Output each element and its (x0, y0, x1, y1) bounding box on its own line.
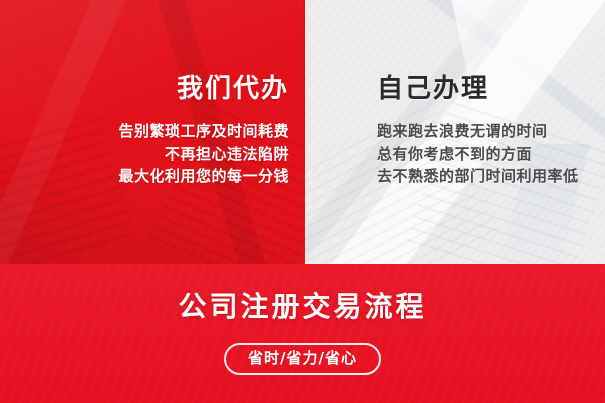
panel-do-it-yourself-content: 自己办理 跑来跑去浪费无谓的时间 总有你考虑不到的方面 去不熟悉的部门时间利用率… (305, 0, 605, 264)
right-panel-drawback-line-3: 去不熟悉的部门时间利用率低 (377, 165, 579, 188)
comparison-row: 我们代办 告别繁琐工序及时间耗费 不再担心违法陷阱 最大化利用您的每一分钱 自己… (0, 0, 605, 264)
left-panel-benefit-list: 告别繁琐工序及时间耗费 不再担心违法陷阱 最大化利用您的每一分钱 (118, 120, 289, 188)
bottom-banner-title: 公司注册交易流程 (178, 293, 426, 321)
panel-we-handle-it-content: 我们代办 告别繁琐工序及时间耗费 不再担心违法陷阱 最大化利用您的每一分钱 (0, 0, 303, 264)
left-panel-headline: 我们代办 (177, 76, 289, 102)
bottom-banner-texture (0, 264, 605, 403)
left-panel-benefit-line-3: 最大化利用您的每一分钱 (118, 165, 289, 188)
panel-we-handle-it: 我们代办 告别繁琐工序及时间耗费 不再担心违法陷阱 最大化利用您的每一分钱 (0, 0, 303, 264)
panel-do-it-yourself: 自己办理 跑来跑去浪费无谓的时间 总有你考虑不到的方面 去不熟悉的部门时间利用率… (303, 0, 605, 264)
right-panel-drawback-list: 跑来跑去浪费无谓的时间 总有你考虑不到的方面 去不熟悉的部门时间利用率低 (377, 120, 579, 188)
left-panel-benefit-line-2: 不再担心违法陷阱 (118, 143, 289, 166)
bottom-process-banner: 公司注册交易流程 省时/省力/省心 (0, 264, 605, 403)
right-panel-drawback-line-1: 跑来跑去浪费无谓的时间 (377, 120, 579, 143)
promo-banner: 我们代办 告别繁琐工序及时间耗费 不再担心违法陷阱 最大化利用您的每一分钱 自己… (0, 0, 605, 403)
right-panel-drawback-line-2: 总有你考虑不到的方面 (377, 143, 579, 166)
bottom-banner-badge: 省时/省力/省心 (224, 343, 381, 375)
right-panel-headline: 自己办理 (377, 76, 489, 102)
left-panel-benefit-line-1: 告别繁琐工序及时间耗费 (118, 120, 289, 143)
